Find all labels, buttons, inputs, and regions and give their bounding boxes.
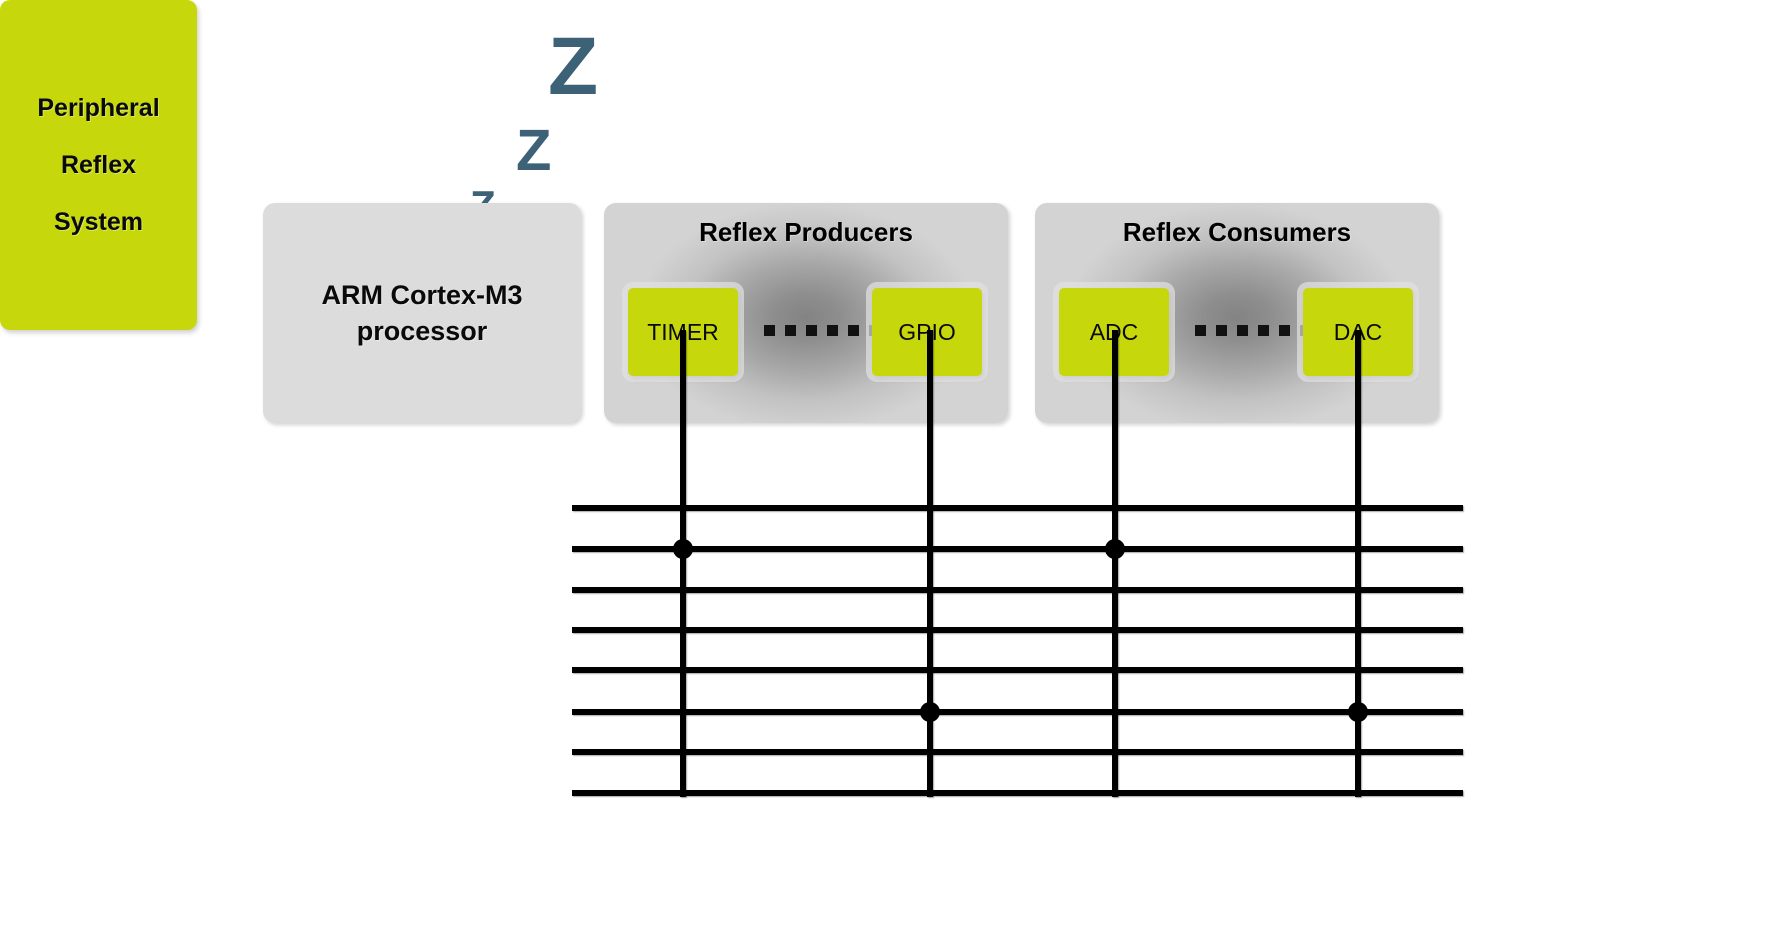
bus-line-1 — [572, 546, 1463, 552]
junction-dot-adc — [1105, 539, 1125, 559]
bus-line-7 — [572, 790, 1463, 796]
junction-dot-timer — [673, 539, 693, 559]
reflex-producers-title: Reflex Producers — [604, 217, 1008, 248]
bus-line-5 — [572, 709, 1463, 715]
bus-line-6 — [572, 749, 1463, 755]
connection-wire-gpio — [927, 330, 933, 797]
ellipsis-dot — [827, 325, 838, 336]
ellipsis-dot — [1237, 325, 1248, 336]
ellipsis-dot — [848, 325, 859, 336]
connection-wire-timer — [680, 330, 686, 797]
sleep-z-large-icon: Z — [548, 26, 598, 108]
ellipsis-dot — [1258, 325, 1269, 336]
ellipsis-dot — [806, 325, 817, 336]
ellipsis-dot — [785, 325, 796, 336]
processor-label-line1: ARM Cortex-M3 — [321, 280, 522, 310]
prs-label-line3: System — [54, 208, 143, 237]
peripheral-reflex-system-box: Peripheral Reflex System — [0, 0, 197, 330]
junction-dot-dac — [1348, 702, 1368, 722]
reflex-consumers-group: Reflex Consumers ADC DAC — [1035, 203, 1439, 423]
bus-line-2 — [572, 587, 1463, 593]
sleep-z-medium-icon: Z — [516, 122, 551, 180]
junction-dot-gpio — [920, 702, 940, 722]
diagram-canvas: Z Z Z ARM Cortex-M3 processor Reflex Pro… — [0, 0, 1772, 947]
reflex-producers-group: Reflex Producers TIMER GPIO — [604, 203, 1008, 423]
consumers-ellipsis-icon — [1195, 325, 1311, 336]
processor-label: ARM Cortex-M3 processor — [321, 277, 522, 350]
arm-cortex-m3-processor-box: ARM Cortex-M3 processor — [263, 203, 581, 423]
bus-line-4 — [572, 667, 1463, 673]
ellipsis-dot — [1195, 325, 1206, 336]
ellipsis-dot — [1216, 325, 1227, 336]
processor-label-line2: processor — [357, 316, 488, 346]
producers-ellipsis-icon — [764, 325, 880, 336]
prs-label-line1: Peripheral — [37, 94, 159, 123]
connection-wire-dac — [1355, 330, 1361, 797]
bus-line-0 — [572, 505, 1463, 511]
ellipsis-dot — [764, 325, 775, 336]
bus-line-3 — [572, 627, 1463, 633]
prs-label-line2: Reflex — [61, 151, 136, 180]
ellipsis-dot — [1279, 325, 1290, 336]
connection-wire-adc — [1112, 330, 1118, 797]
reflex-consumers-title: Reflex Consumers — [1035, 217, 1439, 248]
